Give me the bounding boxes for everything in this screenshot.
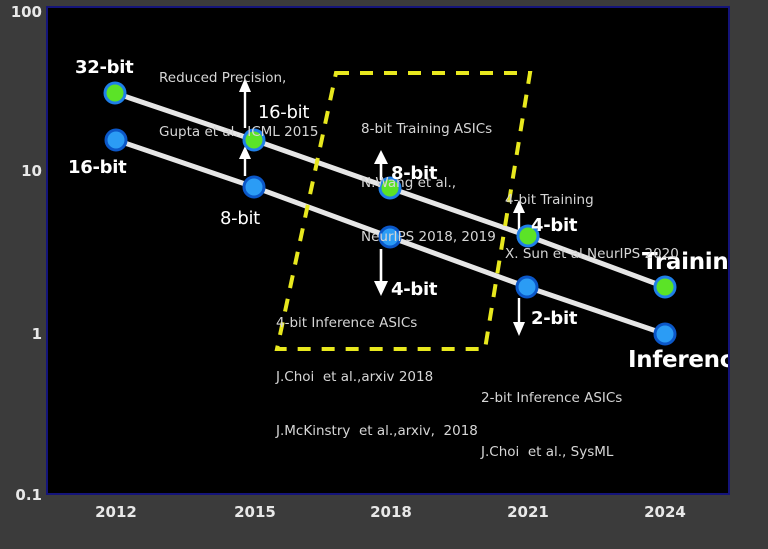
plot-inner: 32-bit 16-bit 16-bit 8-bit 8-bit 4-bit 4… bbox=[48, 8, 728, 493]
x-tick-2024: 2024 bbox=[644, 503, 686, 521]
x-tick-2018: 2018 bbox=[370, 503, 412, 521]
annotation-4bit-training-line2: X. Sun et al NeurIPS 2020 bbox=[505, 245, 679, 263]
point-label-inference-2015: 8-bit bbox=[220, 208, 260, 229]
annotation-8bit-training-asics: 8-bit Training ASICs N.Wang et al., Neur… bbox=[361, 84, 496, 282]
annotation-8bit-training-asics-line2: N.Wang et al., bbox=[361, 174, 496, 192]
annotation-8bit-training-asics-line3: NeurIPS 2018, 2019 bbox=[361, 228, 496, 246]
x-tick-2015: 2015 bbox=[234, 503, 276, 521]
point-label-inference-2012: 16-bit bbox=[68, 157, 126, 178]
y-tick-100: 100 bbox=[0, 3, 42, 21]
annotation-reduced-precision-line1: Reduced Precision, bbox=[159, 69, 318, 87]
annotation-reduced-precision-line2: Gupta et al., ICML 2015 bbox=[159, 123, 318, 141]
annotation-2bit-inference-asics: 2-bit Inference ASICs J.Choi et al., Sys… bbox=[481, 353, 622, 493]
training-point-2012 bbox=[105, 83, 125, 103]
annotation-4bit-inference-asics-line2: J.Choi et al.,arxiv 2018 bbox=[276, 368, 478, 386]
y-tick-10: 10 bbox=[0, 162, 42, 180]
annotation-reduced-precision: Reduced Precision, Gupta et al., ICML 20… bbox=[159, 33, 318, 177]
annotation-8bit-training-asics-line1: 8-bit Training ASICs bbox=[361, 120, 496, 138]
annotation-4bit-training-line1: 4-bit Training bbox=[505, 191, 679, 209]
annotation-4bit-training: 4-bit Training X. Sun et al NeurIPS 2020 bbox=[505, 155, 679, 299]
annotation-2bit-inference-asics-line2: J.Choi et al., SysML bbox=[481, 443, 622, 461]
x-tick-2012: 2012 bbox=[95, 503, 137, 521]
chart-screenshot: 100 10 1 0.1 2012 2015 2018 2021 2024 bbox=[0, 0, 768, 549]
inference-point-2012 bbox=[106, 130, 126, 150]
point-label-training-2012: 32-bit bbox=[75, 57, 133, 78]
annotation-4bit-inference-asics: 4-bit Inference ASICs J.Choi et al.,arxi… bbox=[276, 278, 478, 476]
annotation-4bit-inference-asics-line3: J.McKinstry et al.,arxiv, 2018 bbox=[276, 422, 478, 440]
x-tick-2021: 2021 bbox=[507, 503, 549, 521]
annotation-2bit-inference-asics-line1: 2-bit Inference ASICs bbox=[481, 389, 622, 407]
annotation-4bit-inference-asics-line1: 4-bit Inference ASICs bbox=[276, 314, 478, 332]
inference-point-2024 bbox=[655, 324, 675, 344]
plot-area: 32-bit 16-bit 16-bit 8-bit 8-bit 4-bit 4… bbox=[46, 6, 730, 495]
y-tick-1: 1 bbox=[0, 325, 42, 343]
point-label-inference-2021: 2-bit bbox=[531, 308, 577, 329]
inference-point-2015 bbox=[244, 177, 264, 197]
y-tick-0-1: 0.1 bbox=[0, 486, 42, 504]
series-label-inference: Inference bbox=[628, 347, 728, 373]
arrow-down-inference-2021 bbox=[513, 298, 525, 336]
